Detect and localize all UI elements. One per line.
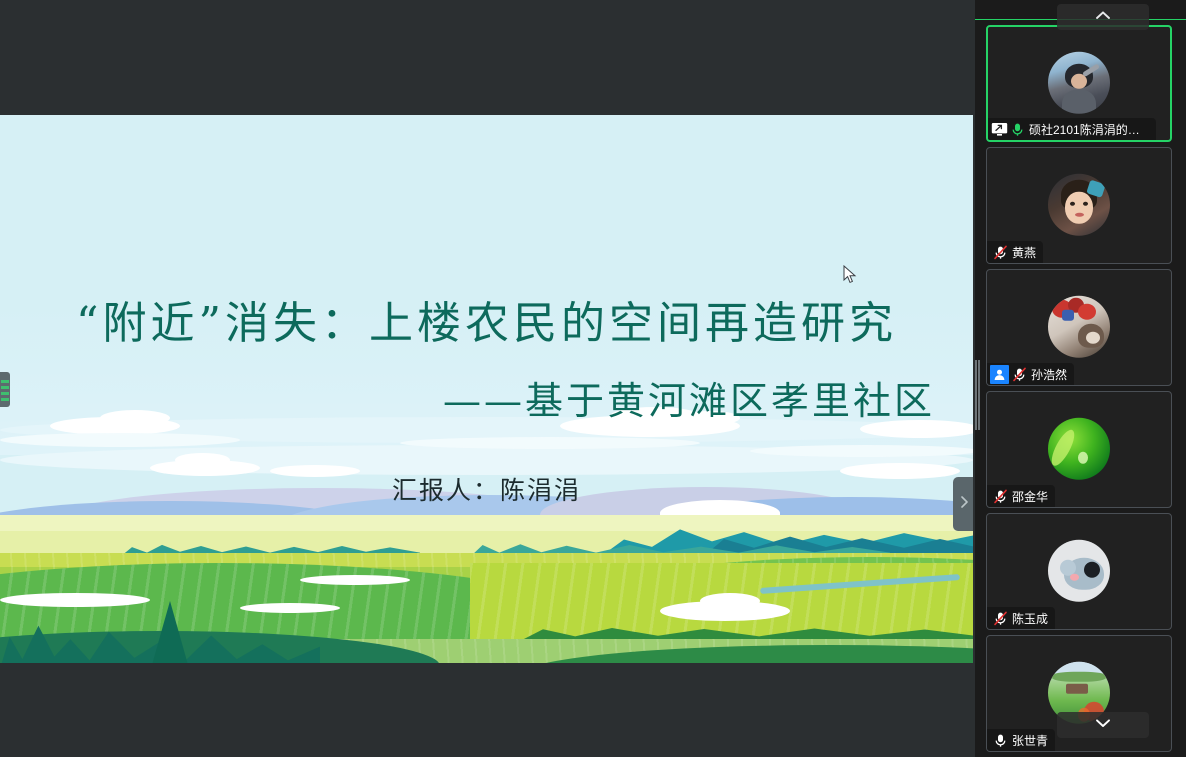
mic-off-icon: [1012, 367, 1027, 382]
avatar: [1048, 51, 1110, 113]
shared-screen-stage: “附近”消失：上楼农民的空间再造研究 ——基于黄河滩区孝里社区 汇报人：陈涓涓: [0, 0, 975, 757]
presentation-slide[interactable]: “附近”消失：上楼农民的空间再造研究 ——基于黄河滩区孝里社区 汇报人：陈涓涓: [0, 115, 973, 663]
panel-scrollbar[interactable]: [975, 360, 980, 430]
screen-share-icon: [991, 122, 1008, 137]
participant-name: 邵金华: [1012, 488, 1048, 505]
scroll-up-button[interactable]: [1057, 4, 1149, 30]
participant-name: 硕社2101陈涓涓的屏...: [1029, 121, 1149, 138]
mic-on-icon: [993, 733, 1008, 748]
participant-name: 孙浩然: [1031, 366, 1067, 383]
grip-lines-icon: [1, 380, 9, 402]
mic-off-icon: [993, 489, 1008, 504]
participant-name: 黄燕: [1012, 244, 1036, 261]
avatar: [1048, 417, 1110, 479]
participant-name: 陈玉成: [1012, 610, 1048, 627]
participant-tile[interactable]: 孙浩然: [986, 269, 1172, 386]
avatar: [1048, 295, 1110, 357]
participant-tile[interactable]: 陈玉成: [986, 513, 1172, 630]
avatar: [1048, 173, 1110, 235]
participant-tile[interactable]: 邵金华: [986, 391, 1172, 508]
slide-subtitle: ——基于黄河滩区孝里社区: [0, 370, 973, 425]
slide-title: “附近”消失：上楼农民的空间再造研究: [0, 287, 973, 351]
slide-text-layer: “附近”消失：上楼农民的空间再造研究 ——基于黄河滩区孝里社区 汇报人：陈涓涓: [0, 115, 973, 663]
mic-off-icon: [993, 611, 1008, 626]
participant-badge: 黄燕: [987, 241, 1043, 263]
participant-tile[interactable]: 黄燕: [986, 147, 1172, 264]
panel-collapse-handle[interactable]: [953, 477, 973, 531]
chevron-down-icon: [1094, 716, 1112, 734]
participant-badge: 张世青: [987, 729, 1055, 751]
participant-badge: 孙浩然: [987, 363, 1074, 385]
chevron-up-icon: [1094, 8, 1112, 26]
participant-badge: 硕社2101陈涓涓的屏...: [988, 118, 1156, 140]
host-icon: [990, 365, 1009, 384]
participant-badge: 陈玉成: [987, 607, 1055, 629]
scrollbar-track-right: [978, 360, 980, 430]
participant-name: 张世青: [1012, 732, 1048, 749]
participants-list[interactable]: 硕社2101陈涓涓的屏...: [975, 0, 1186, 757]
avatar: [1048, 539, 1110, 601]
scroll-down-button[interactable]: [1057, 712, 1149, 738]
drag-handle[interactable]: [0, 372, 10, 407]
chevron-right-icon: [956, 494, 972, 515]
mouse-cursor: [843, 265, 857, 285]
mic-off-icon: [993, 245, 1008, 260]
slide-presenter: 汇报人：陈涓涓: [0, 471, 973, 507]
scrollbar-track-left: [975, 360, 977, 430]
participants-panel: 硕社2101陈涓涓的屏...: [975, 0, 1186, 757]
participant-tile[interactable]: 硕社2101陈涓涓的屏...: [986, 25, 1172, 142]
participant-badge: 邵金华: [987, 485, 1055, 507]
mic-on-icon: [1010, 122, 1025, 137]
